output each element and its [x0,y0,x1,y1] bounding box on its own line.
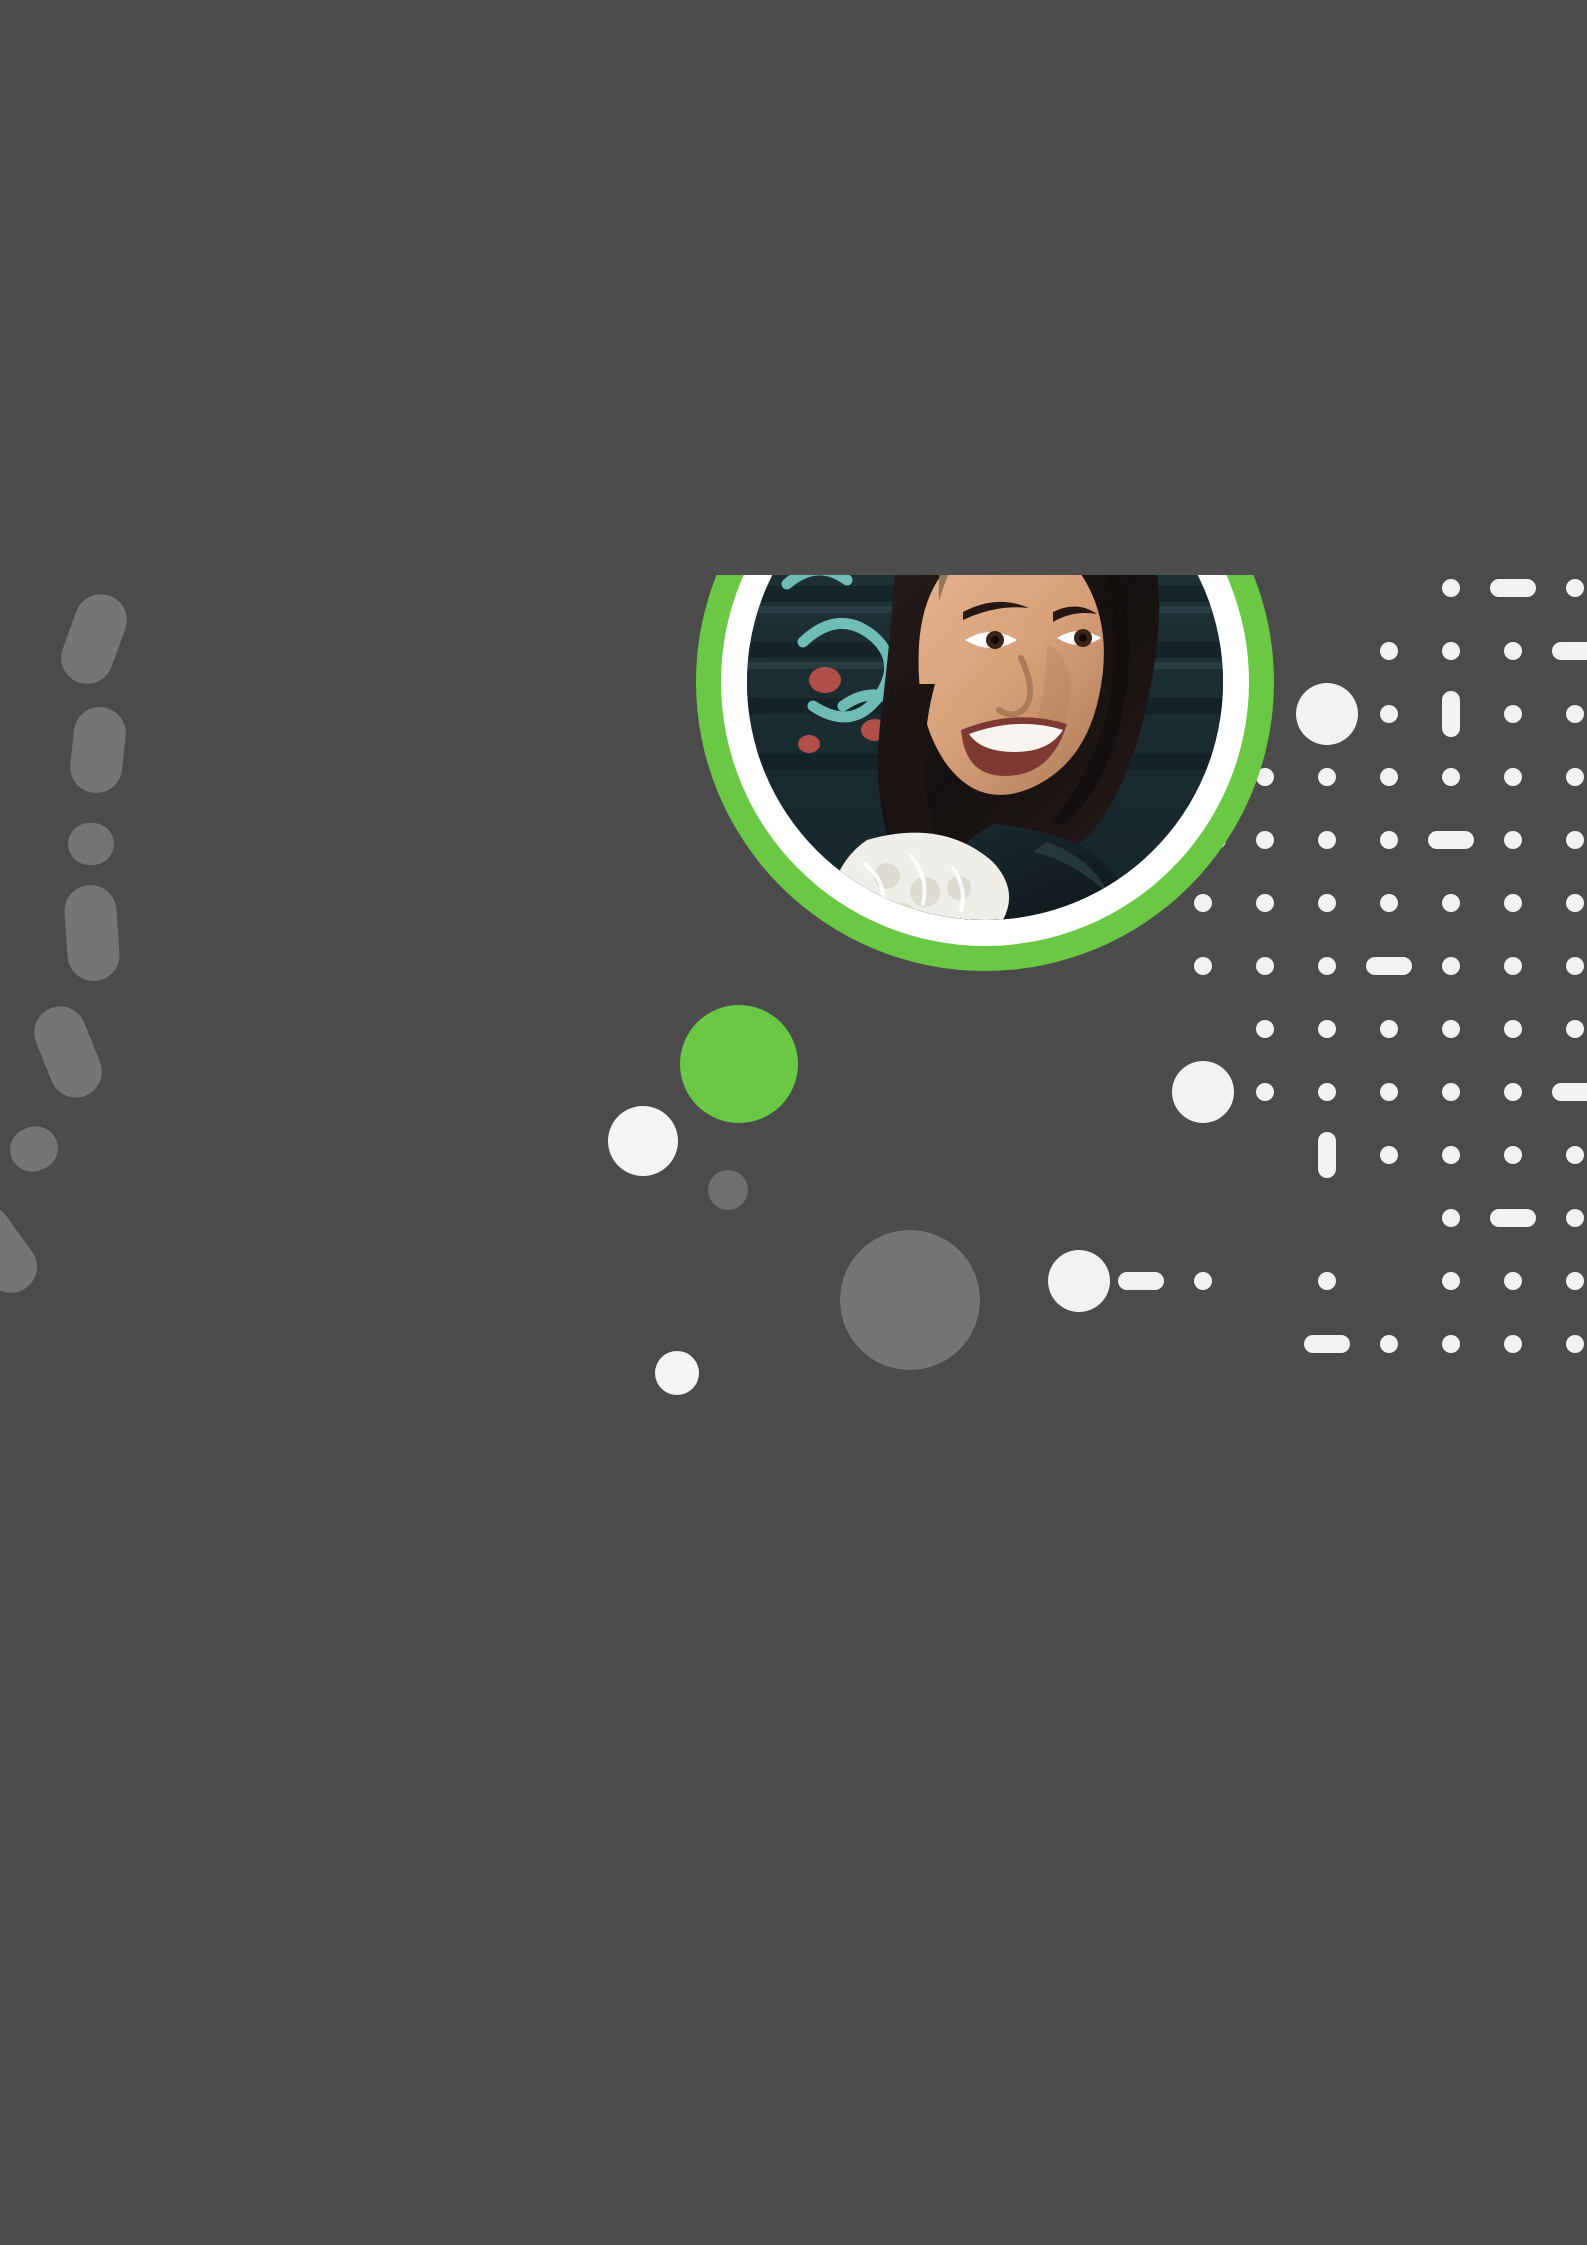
pattern-dot [1504,1083,1522,1101]
pattern-dot [1442,1083,1460,1101]
pattern-dot [1490,1209,1536,1227]
pattern-dot [1566,1209,1584,1227]
pattern-dot [1442,579,1460,597]
pattern-dot [1380,831,1398,849]
decorative-circle-green [680,1005,798,1123]
pattern-dot [1318,957,1336,975]
pattern-dot [1256,957,1274,975]
pattern-dot [1256,1083,1274,1101]
pattern-dash [26,999,109,1106]
decorative-circle-white-small [655,1351,699,1395]
pattern-dot [1318,768,1336,786]
pattern-dash [68,705,129,796]
pattern-dot [1566,1020,1584,1038]
whitepaper-cover-page: Building a Future-proof Organization Pre… [0,575,1587,1823]
pattern-dot [1566,831,1584,849]
pattern-dot [1304,1335,1350,1353]
pattern-dot [1504,1335,1522,1353]
pattern-dot [1318,1083,1336,1101]
pattern-dot [1428,831,1474,849]
pattern-dot [1380,768,1398,786]
pattern-dot [1566,579,1584,597]
pattern-dot [1442,1146,1460,1164]
pattern-dot [1118,1272,1164,1290]
decorative-circle-white-large [608,1106,678,1176]
pattern-dash [63,883,122,982]
pattern-dot [1442,957,1460,975]
pattern-dot [1318,831,1336,849]
pattern-dot [1504,705,1522,723]
pattern-dot [1490,579,1536,597]
pattern-dash [0,1195,47,1303]
pattern-dot [1256,1020,1274,1038]
decorative-circle-gray-small [708,1170,748,1210]
pattern-dot [1380,894,1398,912]
pattern-dash [68,823,114,865]
pattern-dot [1442,768,1460,786]
hero-photo [747,575,1223,920]
pattern-dot [1442,1209,1460,1227]
pattern-dot [1318,1132,1336,1178]
pattern-dot [1504,831,1522,849]
hero-photo-artwork [747,575,1223,920]
pattern-dash [4,1120,64,1178]
pattern-dot [1194,957,1212,975]
pattern-dot [1552,642,1587,660]
pattern-dot [1380,1083,1398,1101]
pattern-dot [1380,642,1398,660]
pattern-dot [1318,894,1336,912]
pattern-dot [1318,1020,1336,1038]
pattern-dot [1442,1272,1460,1290]
pattern-dot [1256,831,1274,849]
dashed-curve-pattern [0,575,200,885]
hero-photo-ring-inner [721,575,1249,946]
pattern-dot [1504,768,1522,786]
pattern-dot [1380,1020,1398,1038]
pattern-dot [1566,768,1584,786]
screenshot-viewport: Building a Future-proof Organization Pre… [0,0,1587,2245]
pattern-dash [54,587,134,691]
pattern-dot [1296,683,1358,745]
pattern-dot [1566,957,1584,975]
pattern-dot [1504,894,1522,912]
pattern-dot [1566,705,1584,723]
pattern-dot [1566,1272,1584,1290]
pattern-dot [1172,1061,1234,1123]
pattern-dot [1048,1250,1110,1312]
pattern-dot [1380,1146,1398,1164]
decorative-circle-gray-large [840,1230,980,1370]
pattern-dot [1366,957,1412,975]
pattern-dot [1442,894,1460,912]
pattern-dot [1380,1335,1398,1353]
pattern-dot [1318,1272,1336,1290]
pattern-dot [1442,691,1460,737]
pattern-dot [1442,642,1460,660]
pattern-dot [1256,894,1274,912]
pattern-dot [1442,1020,1460,1038]
pattern-dot [1566,1146,1584,1164]
pattern-dot [1552,1083,1587,1101]
pattern-dot [1504,1020,1522,1038]
hero-photo-ring-outer [696,575,1274,971]
pattern-dot [1504,957,1522,975]
pattern-dot [1504,642,1522,660]
pattern-dot [1566,1335,1584,1353]
pattern-dot [1194,1272,1212,1290]
pattern-dot [1380,705,1398,723]
pattern-dot [1504,1272,1522,1290]
pattern-dot [1566,894,1584,912]
pattern-dot [1442,1335,1460,1353]
pattern-dot [1504,1146,1522,1164]
